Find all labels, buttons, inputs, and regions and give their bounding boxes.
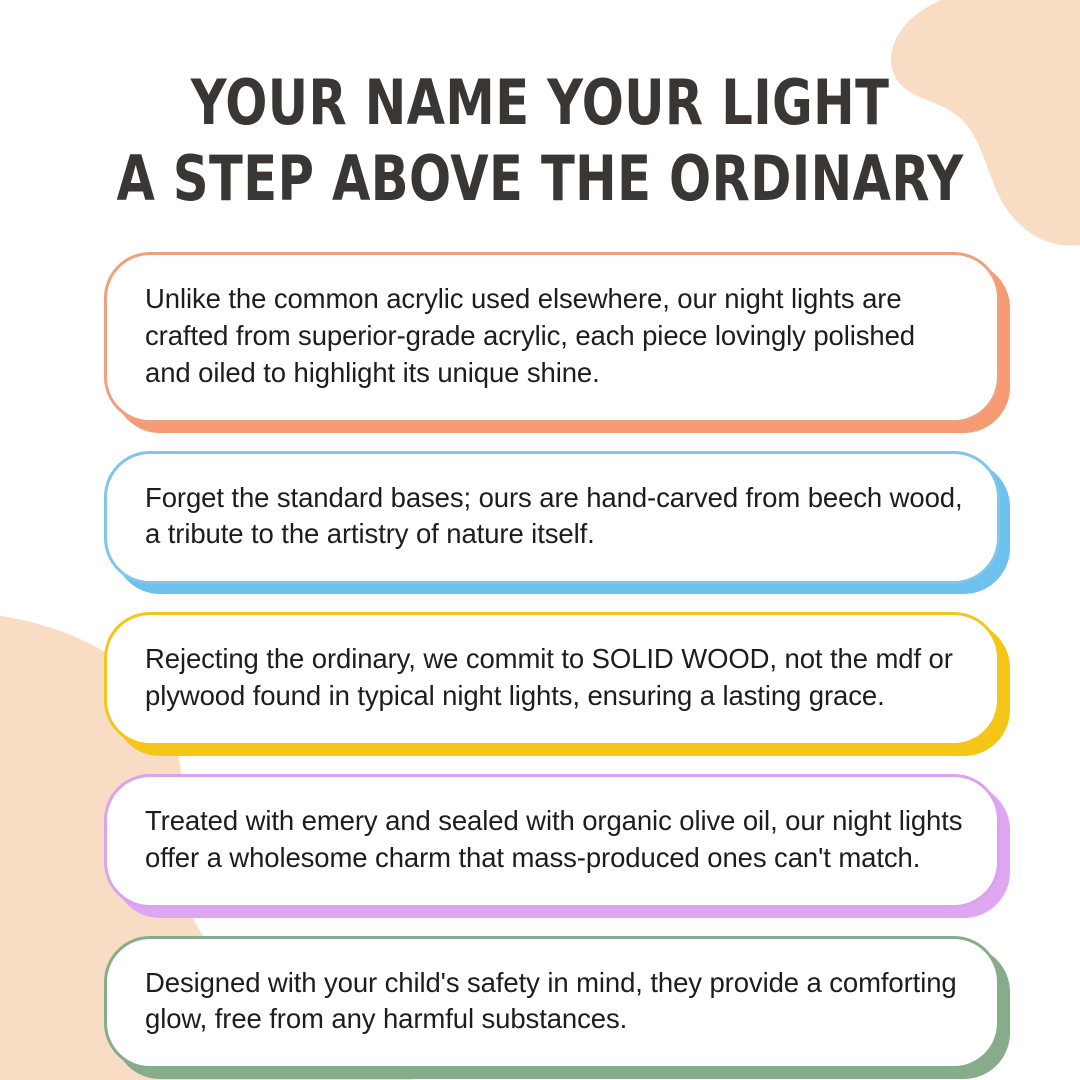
card-body: Forget the standard bases; ours are hand… [104, 451, 1000, 585]
title-line-2: A STEP ABOVE THE ORDINARY [108, 148, 972, 210]
feature-card-olive-oil-finish: Treated with emery and sealed with organ… [104, 774, 1000, 908]
card-text: Rejecting the ordinary, we commit to SOL… [145, 641, 963, 715]
title-line-1: YOUR NAME YOUR LIGHT [108, 72, 972, 134]
feature-card-list: Unlike the common acrylic used elsewhere… [104, 252, 1000, 1069]
card-text: Treated with emery and sealed with organ… [145, 803, 963, 877]
card-body: Treated with emery and sealed with organ… [104, 774, 1000, 908]
feature-card-acrylic: Unlike the common acrylic used elsewhere… [104, 252, 1000, 423]
card-body: Unlike the common acrylic used elsewhere… [104, 252, 1000, 423]
infographic-canvas: YOUR NAME YOUR LIGHT A STEP ABOVE THE OR… [0, 0, 1080, 1080]
card-text: Forget the standard bases; ours are hand… [145, 480, 963, 554]
card-text: Unlike the common acrylic used elsewhere… [145, 281, 963, 392]
card-body: Rejecting the ordinary, we commit to SOL… [104, 612, 1000, 746]
feature-card-solid-wood: Rejecting the ordinary, we commit to SOL… [104, 612, 1000, 746]
feature-card-child-safety: Designed with your child's safety in min… [104, 936, 1000, 1070]
feature-card-beech-wood-base: Forget the standard bases; ours are hand… [104, 451, 1000, 585]
card-body: Designed with your child's safety in min… [104, 936, 1000, 1070]
page-title: YOUR NAME YOUR LIGHT A STEP ABOVE THE OR… [0, 72, 1080, 210]
card-text: Designed with your child's safety in min… [145, 965, 963, 1039]
